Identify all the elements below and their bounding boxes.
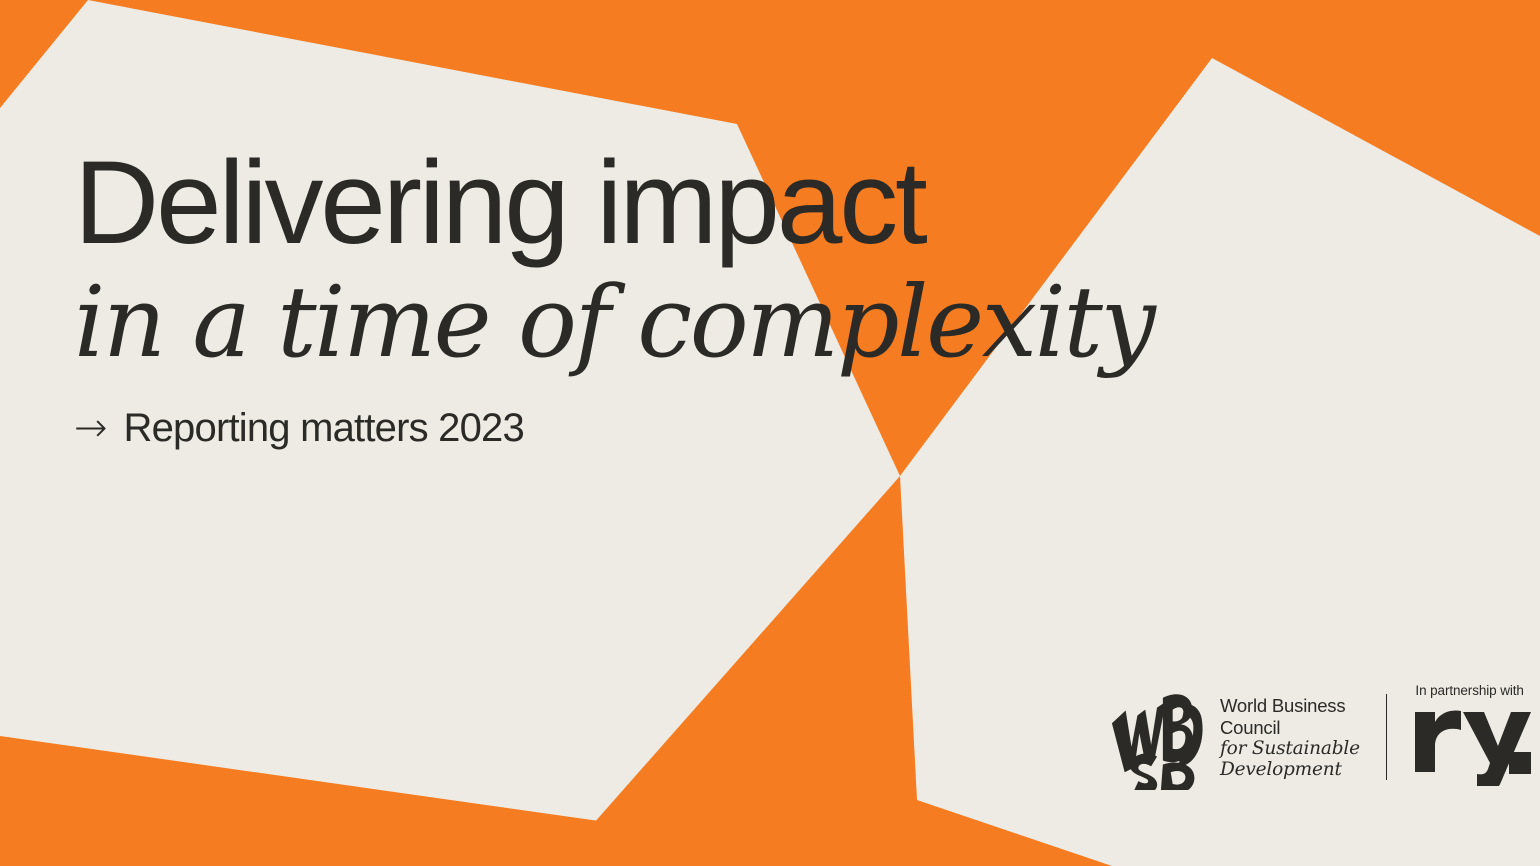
wbcsd-wordmark-line-4: Development [1220, 759, 1360, 780]
report-cover: Delivering impact in a time of complexit… [0, 0, 1540, 866]
wbcsd-wordmark-line-3: for Sustainable [1220, 738, 1360, 759]
partner-kicker-label: In partnership with [1415, 683, 1523, 698]
logo-divider [1386, 694, 1388, 780]
title-line-2: in a time of complexity [74, 262, 1374, 372]
subtitle-text: Reporting matters 2023 [124, 406, 524, 451]
arrow-right-icon: → [74, 408, 108, 448]
wbcsd-logo-lockup: World Business Council for Sustainable D… [1108, 686, 1360, 790]
title-line-1: Delivering impact [74, 146, 1374, 262]
subtitle-row: → Reporting matters 2023 [74, 406, 1374, 451]
wbcsd-wordmark: World Business Council for Sustainable D… [1220, 695, 1360, 781]
wbcsd-wordmark-line-2: Council [1220, 717, 1360, 738]
ry-partner-logo-icon [1413, 700, 1531, 786]
cover-headline: Delivering impact in a time of complexit… [74, 146, 1374, 451]
wbcsd-wordmark-line-1: World Business [1220, 695, 1360, 716]
partner-logo-block: In partnership with [1413, 683, 1531, 790]
logo-strip: World Business Council for Sustainable D… [1108, 650, 1531, 790]
wbcsd-globe-icon [1108, 686, 1206, 790]
cover-content: Delivering impact in a time of complexit… [0, 0, 1540, 866]
